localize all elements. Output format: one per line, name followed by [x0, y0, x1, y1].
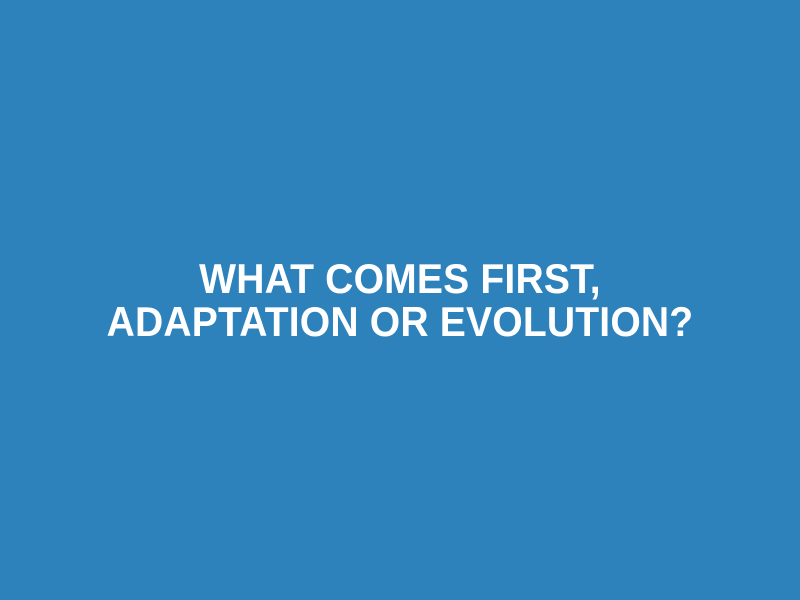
headline-block: What comes first, adaptation or evolutio… — [80, 257, 720, 343]
page-title: What comes first, adaptation or evolutio… — [102, 257, 697, 343]
title-banner: What comes first, adaptation or evolutio… — [0, 0, 800, 600]
